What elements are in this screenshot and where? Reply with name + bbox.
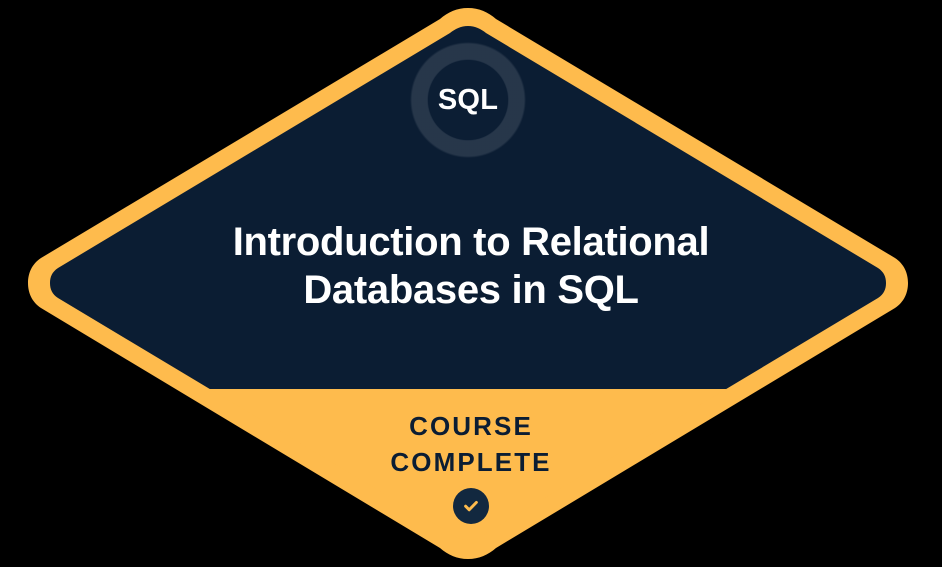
course-completion-badge: SQL Introduction to Relational Databases… bbox=[0, 0, 942, 567]
sql-logo-inner: SQL bbox=[428, 60, 508, 140]
check-circle-icon bbox=[453, 488, 489, 524]
sql-logo-label: SQL bbox=[438, 86, 498, 115]
sql-logo-icon[interactable]: SQL bbox=[410, 42, 526, 158]
